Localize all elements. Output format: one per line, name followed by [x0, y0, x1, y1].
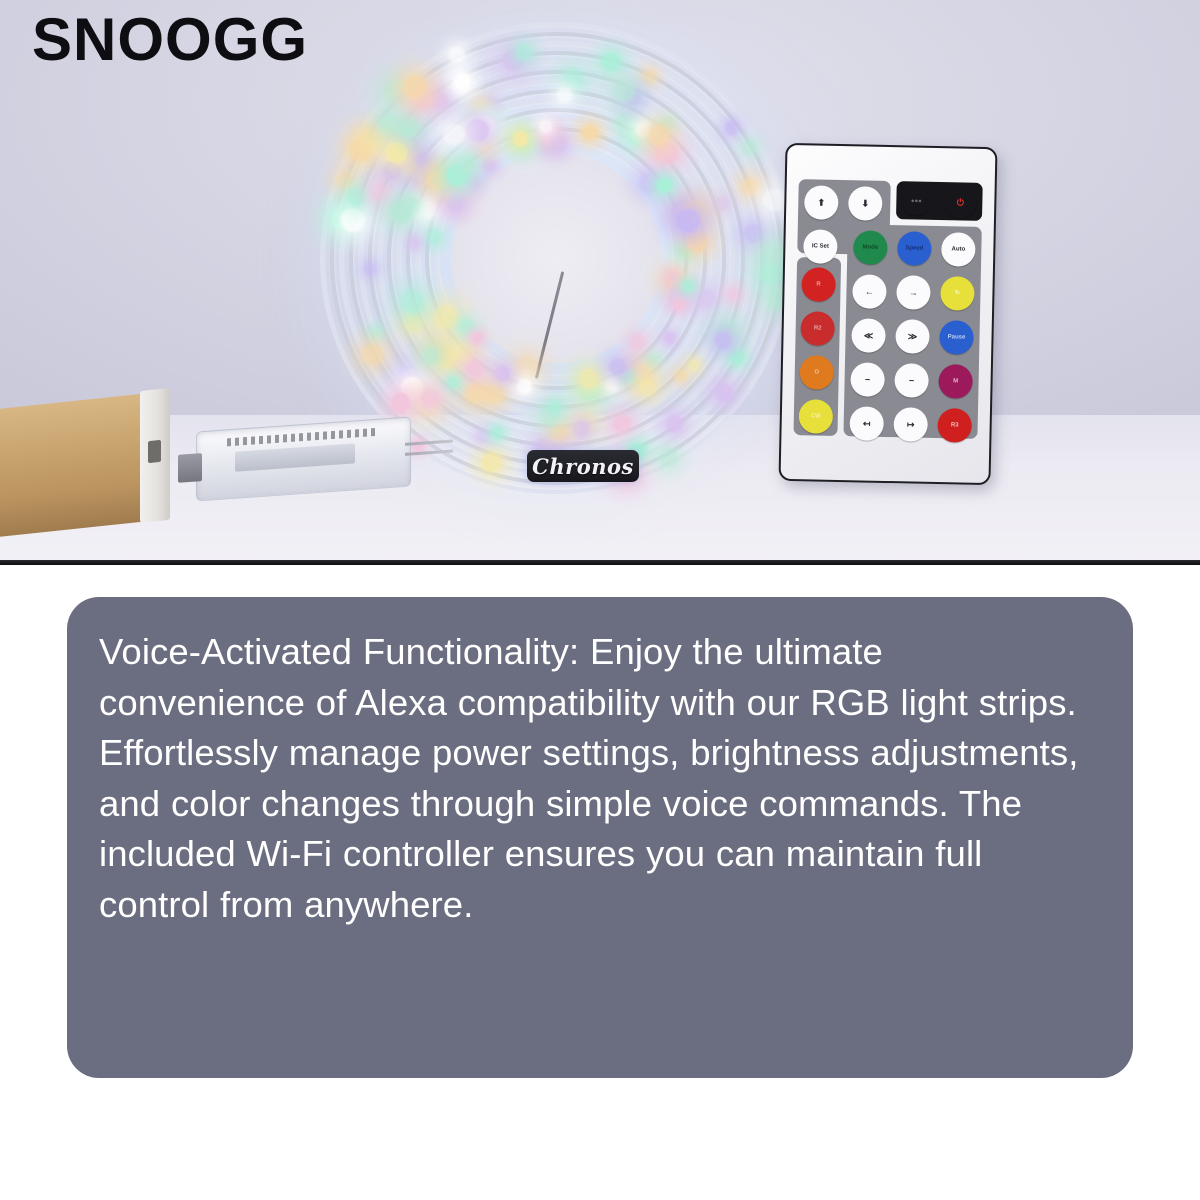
coil-led [551, 425, 566, 440]
product-photo: Chronos ⬆⬇●●●⏻IC SetModeSpeedAutoRR2OCW↻… [0, 0, 1200, 565]
coil-led [727, 288, 739, 300]
coil-led [664, 332, 676, 344]
coil-led [715, 384, 733, 402]
coil-led [495, 366, 510, 381]
coil-led [515, 357, 537, 379]
coil-led [579, 369, 599, 389]
coil-led [466, 119, 489, 142]
coil-led [454, 73, 470, 89]
coil-led [423, 347, 439, 363]
coil-led [341, 208, 365, 232]
coil-led [362, 344, 383, 365]
coil-led [401, 291, 424, 314]
coil-led [744, 224, 763, 243]
coil-led [643, 70, 656, 83]
coil-led [516, 44, 532, 60]
coil-led [513, 131, 528, 146]
coil-led [461, 158, 474, 171]
coil-led [582, 125, 598, 141]
coil-led [763, 189, 785, 211]
product-marketing-page: Chronos ⬆⬇●●●⏻IC SetModeSpeedAutoRR2OCW↻… [0, 0, 1200, 1200]
coil-led [427, 230, 442, 245]
coil-led [630, 334, 645, 349]
ir-remote-control[interactable]: ⬆⬇●●●⏻IC SetModeSpeedAutoRR2OCW↻PauseMR3… [778, 143, 997, 485]
coil-led [448, 196, 464, 212]
coil-led [725, 121, 738, 134]
brand-logo: SNOOGG [32, 8, 308, 71]
coil-led [447, 377, 458, 388]
coil-led [613, 415, 631, 433]
coil-led [459, 320, 474, 335]
coil-led [348, 188, 366, 206]
coil-led [613, 79, 635, 101]
coil-led [364, 263, 376, 275]
coil-led [443, 124, 465, 146]
coil-led [573, 421, 589, 437]
coil-led [743, 140, 757, 154]
controller-usb-plug [178, 453, 202, 483]
chronos-brand-tag: Chronos [527, 450, 639, 482]
coil-led [676, 209, 699, 232]
coil-led [602, 53, 619, 70]
photo-bottom-edge-line [0, 560, 1200, 565]
description-text: Voice-Activated Functionality: Enjoy the… [99, 627, 1099, 930]
gold-power-bank [0, 390, 178, 545]
coil-led [761, 241, 785, 265]
coil-led [391, 393, 410, 412]
coil-led [404, 314, 422, 332]
coil-led [465, 383, 486, 404]
coil-led [622, 371, 634, 383]
coil-led [557, 88, 572, 103]
coil-led [482, 159, 495, 172]
power-bank-body [0, 393, 148, 538]
power-bank-usb-port [148, 440, 161, 463]
coil-led [715, 332, 732, 349]
coil-led [667, 271, 678, 282]
coil-led [421, 390, 440, 409]
coil-led [645, 354, 657, 366]
coil-led [551, 137, 568, 154]
coil-center [451, 153, 661, 363]
coil-led [336, 172, 353, 189]
coil-led [666, 415, 683, 432]
coil-led [687, 232, 707, 252]
chronos-tag-label: Chronos [532, 454, 634, 479]
coil-led [517, 379, 532, 394]
coil-led [455, 342, 475, 362]
coil-led [673, 299, 684, 310]
description-panel: Voice-Activated Functionality: Enjoy the… [67, 597, 1133, 1078]
coil-led [427, 171, 445, 189]
controller-chip [235, 443, 355, 471]
coil-led [399, 117, 419, 137]
coil-led [649, 125, 669, 145]
coil-led [434, 306, 458, 330]
coil-led [730, 350, 744, 364]
coil-led [449, 47, 465, 63]
coil-led [474, 100, 487, 113]
